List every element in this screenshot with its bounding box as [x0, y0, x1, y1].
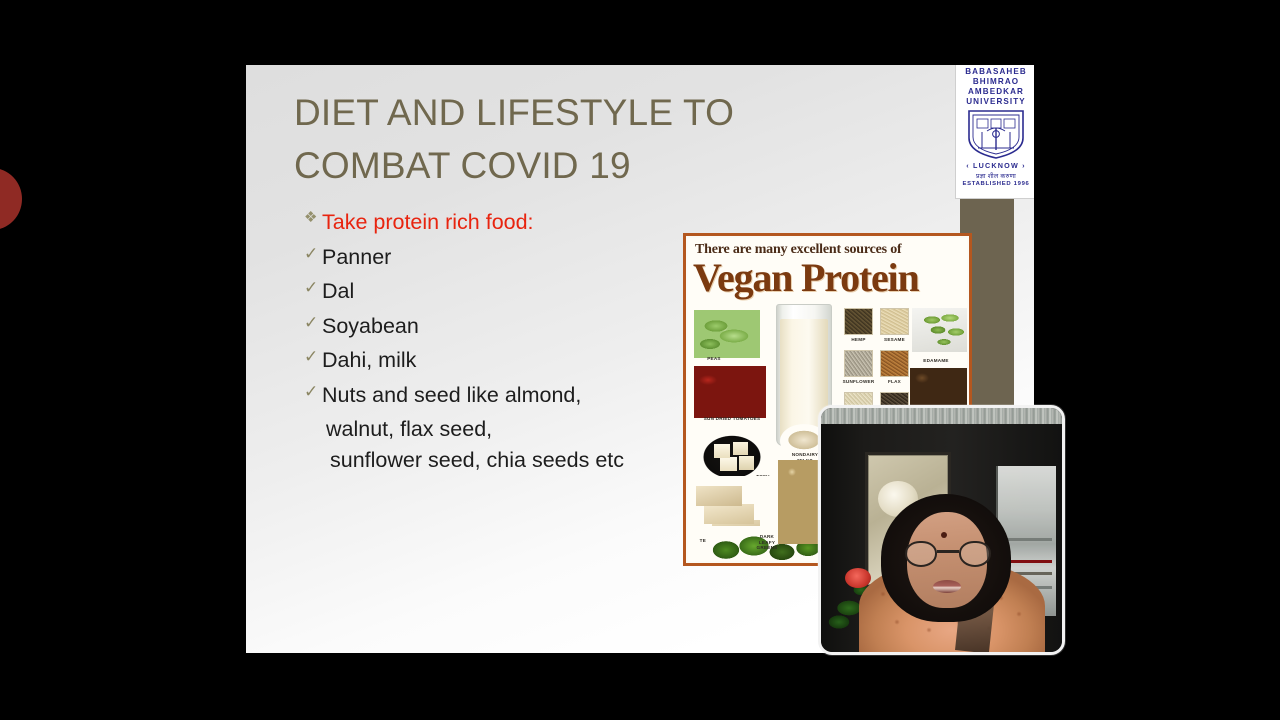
- heading-text: Take protein rich food:: [322, 207, 534, 238]
- video-presenter-glasses: [905, 541, 991, 567]
- food-image-peas: [694, 310, 760, 358]
- food-label-sesame: SESAME: [878, 337, 911, 343]
- slide-body-content: ❖ Take protein rich food: ✓ Panner ✓ Dal…: [304, 207, 724, 475]
- list-item: ✓ Dal: [304, 276, 724, 307]
- university-crest-icon: [965, 108, 1027, 160]
- university-motto: प्रज्ञा शील करुणा: [958, 171, 1034, 180]
- list-item-label: Dahi, milk: [322, 345, 416, 376]
- page-title: DIET AND LIFESTYLE TO COMBAT COVID 19: [294, 87, 894, 192]
- check-icon: ✓: [304, 242, 322, 266]
- check-icon: ✓: [304, 311, 322, 335]
- list-item-continuation: sunflower seed, chia seeds etc: [304, 445, 724, 476]
- glasses-left-lens: [905, 541, 937, 567]
- glasses-right-lens: [959, 541, 991, 567]
- university-established: ESTABLISHED 1996: [958, 181, 1034, 187]
- list-item: ✓ Dahi, milk: [304, 345, 724, 376]
- video-presenter-bindi: [941, 532, 947, 538]
- poster-headline-text: Vegan Protein: [693, 258, 963, 298]
- list-item-heading: ❖ Take protein rich food:: [304, 207, 724, 238]
- check-icon: ✓: [304, 380, 322, 404]
- food-image-flax: [880, 350, 909, 377]
- list-item: ✓ Panner: [304, 242, 724, 273]
- food-image-hemp: [844, 308, 873, 335]
- food-label-hemp: HEMP: [842, 337, 875, 343]
- food-image-edamame: [912, 300, 967, 356]
- food-label-flax: FLAX: [880, 379, 909, 385]
- list-item: ✓ Nuts and seed like almond,: [304, 380, 724, 411]
- check-icon: ✓: [304, 345, 322, 369]
- food-image-sun-dried-tomatoes: [694, 366, 766, 418]
- decorative-red-circle: [0, 168, 22, 230]
- presenter-video-overlay[interactable]: [818, 405, 1065, 655]
- video-presenter-mouth: [933, 580, 961, 593]
- university-name: BABASAHEB BHIMRAO AMBEDKAR UNIVERSITY: [958, 67, 1034, 106]
- food-label-peas: PEAS: [694, 356, 734, 362]
- screen-root: DIET AND LIFESTYLE TO COMBAT COVID 19 ❖ …: [0, 0, 1280, 720]
- food-label-sun-dried-tomatoes: SUN DRIED TOMATOES: [690, 416, 774, 422]
- list-item-label: Soyabean: [322, 311, 419, 342]
- university-city: ‹ LUCKNOW ›: [958, 161, 1034, 170]
- list-item-continuation: walnut, flax seed,: [304, 414, 724, 445]
- diamond-bullet-icon: ❖: [304, 207, 322, 228]
- video-ceiling-strip: [821, 408, 1062, 424]
- check-icon: ✓: [304, 276, 322, 300]
- university-logo: BABASAHEB BHIMRAO AMBEDKAR UNIVERSITY ‹ …: [955, 65, 1034, 199]
- list-item-label: Dal: [322, 276, 354, 307]
- glasses-bridge: [937, 550, 959, 553]
- list-item-label: Panner: [322, 242, 391, 273]
- list-item-label: Nuts and seed like almond,: [322, 380, 581, 411]
- food-label-sunflower: SUNFLOWER: [838, 379, 879, 385]
- food-label-edamame: EDAMAME: [912, 358, 960, 364]
- food-image-sesame: [880, 308, 909, 335]
- food-image-sunflower: [844, 350, 873, 377]
- list-item: ✓ Soyabean: [304, 311, 724, 342]
